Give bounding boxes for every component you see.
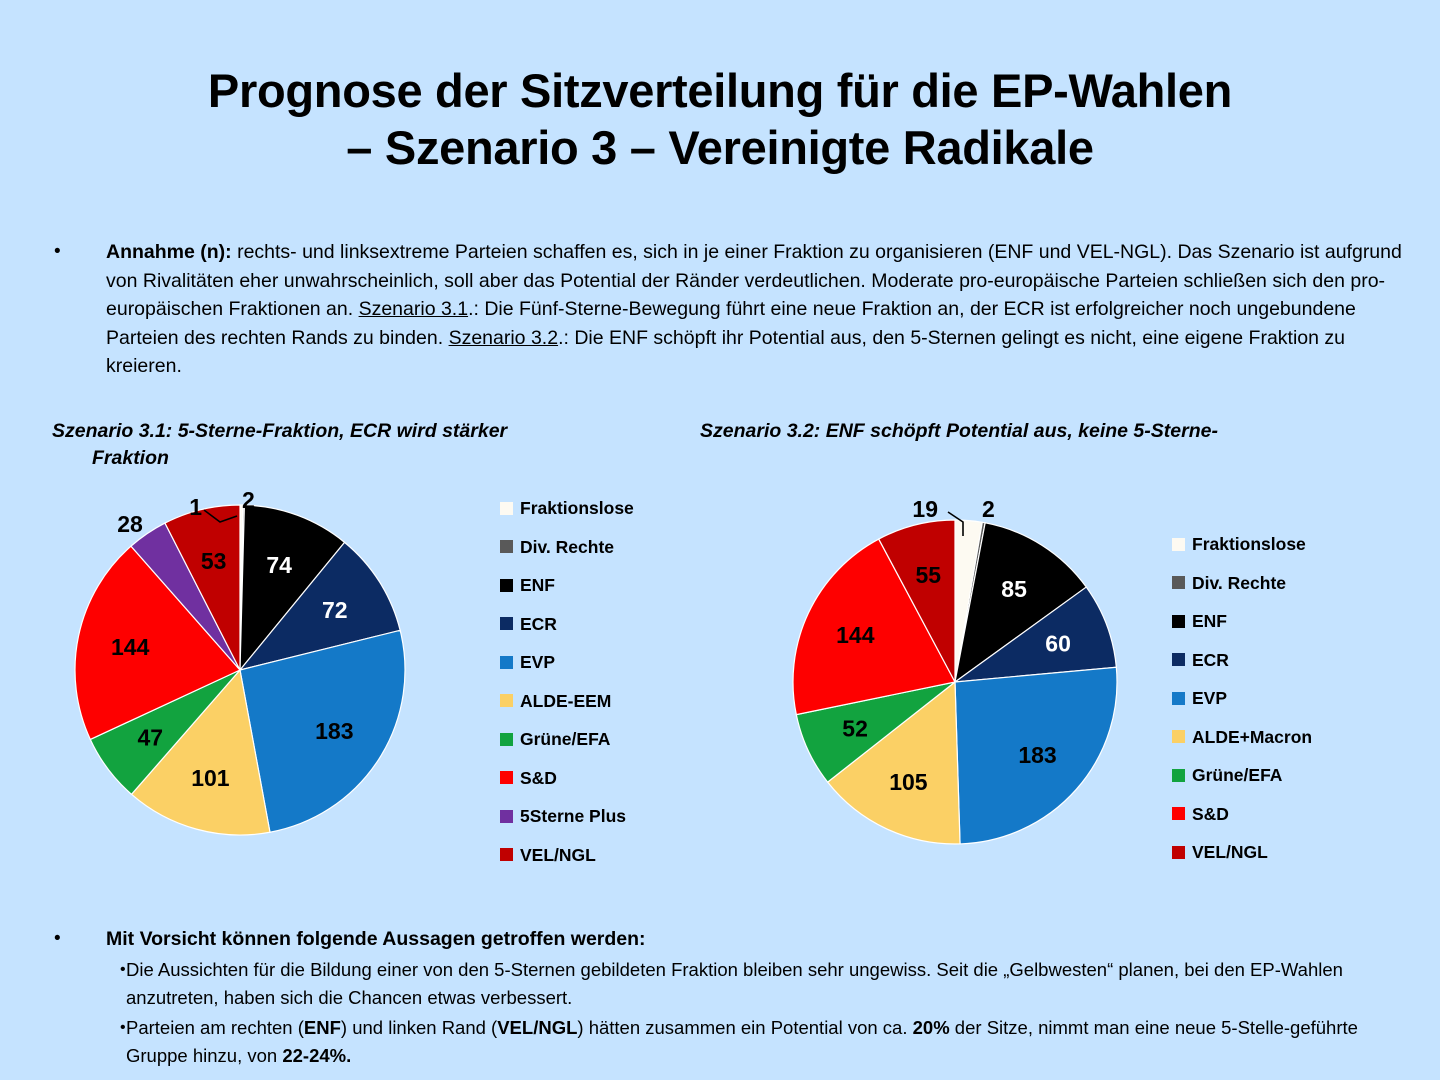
scenario-3-2-legend-item-alde-macron[interactable]: ALDE+Macron xyxy=(1172,718,1312,757)
assumption-bullet-row: • Annahme (n): rechts- und linksextreme … xyxy=(48,238,1404,381)
legend-label: ENF xyxy=(520,566,555,605)
scenario-3-1-legend-item-enf[interactable]: ENF xyxy=(500,566,634,605)
legend-swatch-icon xyxy=(1172,576,1185,589)
conclusion-item-2-enf: ENF xyxy=(304,1017,341,1038)
conclusion-item-2-pct-20: 20% xyxy=(913,1017,950,1038)
conclusion-item-2-pct-range: 22-24%. xyxy=(282,1045,351,1066)
legend-label: ALDE-EEM xyxy=(520,682,611,721)
legend-label: ECR xyxy=(520,605,557,644)
scenario-3-2-legend-item-evp[interactable]: EVP xyxy=(1172,679,1312,718)
conclusion-item-2-c: ) und linken Rand ( xyxy=(341,1017,497,1038)
scenario-3-1-legend-item-fraktionslose[interactable]: Fraktionslose xyxy=(500,489,634,528)
legend-swatch-icon xyxy=(1172,807,1185,820)
pie-label-s-d: 144 xyxy=(836,622,875,648)
scenario-3-2-legend-item-s-d[interactable]: S&D xyxy=(1172,795,1312,834)
scenario-3-2-legend-item-gr-ne-efa[interactable]: Grüne/EFA xyxy=(1172,756,1312,795)
scenario-3-1-legend-item-gr-ne-efa[interactable]: Grüne/EFA xyxy=(500,720,634,759)
pie-label-evp: 183 xyxy=(1018,742,1056,768)
scenario-3-2-legend-item-fraktionslose[interactable]: Fraktionslose xyxy=(1172,525,1312,564)
page-title: Prognose der Sitzverteilung für die EP-W… xyxy=(70,62,1370,177)
legend-swatch-icon xyxy=(500,848,513,861)
legend-label: Grüne/EFA xyxy=(1192,756,1282,795)
pie-label-gr-ne-efa: 47 xyxy=(138,724,164,750)
conclusions-block: • Mit Vorsicht können folgende Aussagen … xyxy=(48,925,1418,1070)
legend-label: Fraktionslose xyxy=(1192,525,1306,564)
legend-label: S&D xyxy=(1192,795,1229,834)
scenario-3-1-legend-item-alde-eem[interactable]: ALDE-EEM xyxy=(500,682,634,721)
legend-label: 5Sterne Plus xyxy=(520,797,626,836)
legend-swatch-icon xyxy=(1172,769,1185,782)
conclusion-item-1: Die Aussichten für die Bildung einer von… xyxy=(126,956,1418,1012)
legend-swatch-icon xyxy=(500,540,513,553)
assumption-text: Annahme (n): rechts- und linksextreme Pa… xyxy=(106,238,1404,381)
legend-swatch-icon xyxy=(500,617,513,630)
pie-label-alde-macron: 105 xyxy=(889,769,928,795)
legend-label: Grüne/EFA xyxy=(520,720,610,759)
pie-chart-scenario-3-1: 747218310147144532128 xyxy=(52,480,432,860)
bullet-glyph: • xyxy=(48,1014,126,1042)
scenario-3-1-legend-item-div-rechte[interactable]: Div. Rechte xyxy=(500,528,634,567)
pie-label-enf: 74 xyxy=(266,552,292,578)
legend-label: EVP xyxy=(520,643,555,682)
legend-swatch-icon xyxy=(1172,692,1185,705)
conclusion-item-2: Parteien am rechten (ENF) und linken Ran… xyxy=(126,1014,1418,1070)
chart-title-line-1: Szenario 3.1: 5-Sterne-Fraktion, ECR wir… xyxy=(52,420,507,442)
legend-label: ECR xyxy=(1192,641,1229,680)
legend-swatch-icon xyxy=(1172,653,1185,666)
scenario-3-1-legend-item-vel-ngl[interactable]: VEL/NGL xyxy=(500,836,634,875)
legend-swatch-icon xyxy=(500,810,513,823)
conclusion-item-2-a: Parteien am rechten ( xyxy=(126,1017,304,1038)
pie-label-div-rechte: 1 xyxy=(189,494,202,520)
chart-title-line-2: Fraktion xyxy=(52,445,169,472)
pie-label-gr-ne-efa: 52 xyxy=(842,715,868,741)
legend-swatch-icon xyxy=(1172,846,1185,859)
legend-swatch-icon xyxy=(1172,615,1185,628)
conclusions-heading-row: • Mit Vorsicht können folgende Aussagen … xyxy=(48,925,1418,954)
pie-label-s-d: 144 xyxy=(111,634,150,660)
conclusion-item-2-velngl: VEL/NGL xyxy=(497,1017,577,1038)
scenario-3-1-legend-item-5sterne-plus[interactable]: 5Sterne Plus xyxy=(500,797,634,836)
scenario-3-2-legend-item-ecr[interactable]: ECR xyxy=(1172,641,1312,680)
chart-title-line-1: Szenario 3.2: ENF schöpft Potential aus,… xyxy=(700,420,1218,442)
pie-label-fraktionslose: 2 xyxy=(242,487,255,513)
pie-label-div-rechte: 2 xyxy=(982,496,995,522)
pie-label-alde-eem: 101 xyxy=(191,765,230,791)
legend-label: S&D xyxy=(520,759,557,798)
scenario-3-2-legend-item-enf[interactable]: ENF xyxy=(1172,602,1312,641)
legend-swatch-icon xyxy=(1172,538,1185,551)
legend-swatch-icon xyxy=(500,694,513,707)
legend-swatch-icon xyxy=(1172,730,1185,743)
chart-title-scenario-3-1: Szenario 3.1: 5-Sterne-Fraktion, ECR wir… xyxy=(52,418,702,472)
assumption-link-3-2: Szenario 3.2 xyxy=(449,327,559,349)
pie-label-ecr: 72 xyxy=(322,597,348,623)
legend-label: EVP xyxy=(1192,679,1227,718)
pie-label-fraktionslose: 19 xyxy=(912,496,938,522)
scenario-3-2-legend-item-vel-ngl[interactable]: VEL/NGL xyxy=(1172,833,1312,872)
legend-label: Div. Rechte xyxy=(520,528,614,567)
scenario-3-1-legend-item-evp[interactable]: EVP xyxy=(500,643,634,682)
pie-label-vel-ngl: 55 xyxy=(916,562,942,588)
conclusion-item-1-row: • Die Aussichten für die Bildung einer v… xyxy=(48,956,1418,1012)
legend-label: VEL/NGL xyxy=(520,836,596,875)
bullet-glyph: • xyxy=(48,956,126,984)
assumption-link-3-1: Szenario 3.1 xyxy=(359,298,469,320)
conclusion-item-2-e: ) hätten zusammen ein Potential von ca. xyxy=(577,1017,912,1038)
scenario-3-2-legend-item-div-rechte[interactable]: Div. Rechte xyxy=(1172,564,1312,603)
pie-label-5sterne-plus: 28 xyxy=(117,511,143,537)
page-title-line-2: – Szenario 3 – Vereinigte Radikale xyxy=(70,119,1370,176)
legend-label: ENF xyxy=(1192,602,1227,641)
legend-swatch-icon xyxy=(500,502,513,515)
bullet-glyph: • xyxy=(48,238,106,267)
chart-title-scenario-3-2: Szenario 3.2: ENF schöpft Potential aus,… xyxy=(700,418,1400,445)
conclusions-heading: Mit Vorsicht können folgende Aussagen ge… xyxy=(106,925,646,954)
pie-label-vel-ngl: 53 xyxy=(201,548,227,574)
legend-swatch-icon xyxy=(500,733,513,746)
legend-swatch-icon xyxy=(500,579,513,592)
pie-label-ecr: 60 xyxy=(1045,630,1071,656)
assumption-lead: Annahme (n): xyxy=(106,241,232,263)
pie-label-enf: 85 xyxy=(1001,576,1027,602)
pie-chart-scenario-3-2: 85601831055214455192 xyxy=(770,492,1150,872)
legend-label: Fraktionslose xyxy=(520,489,634,528)
legend-label: VEL/NGL xyxy=(1192,833,1268,872)
assumption-block: • Annahme (n): rechts- und linksextreme … xyxy=(48,238,1404,381)
bullet-glyph: • xyxy=(48,925,106,954)
legend-scenario-3-1: FraktionsloseDiv. RechteENFECREVPALDE-EE… xyxy=(500,489,634,874)
page-title-line-1: Prognose der Sitzverteilung für die EP-W… xyxy=(70,62,1370,119)
legend-swatch-icon xyxy=(500,656,513,669)
legend-label: ALDE+Macron xyxy=(1192,718,1312,757)
chart-caption-left: Szenario 3.1: 5-Sterne-Fraktion, ECR wir… xyxy=(52,418,702,472)
scenario-3-1-legend-item-ecr[interactable]: ECR xyxy=(500,605,634,644)
conclusion-item-2-row: • Parteien am rechten (ENF) und linken R… xyxy=(48,1014,1418,1070)
chart-caption-right: Szenario 3.2: ENF schöpft Potential aus,… xyxy=(700,418,1400,445)
pie-label-evp: 183 xyxy=(315,718,353,744)
scenario-3-1-legend-item-s-d[interactable]: S&D xyxy=(500,759,634,798)
legend-label: Div. Rechte xyxy=(1192,564,1286,603)
legend-swatch-icon xyxy=(500,771,513,784)
legend-scenario-3-2: FraktionsloseDiv. RechteENFECREVPALDE+Ma… xyxy=(1172,525,1312,872)
